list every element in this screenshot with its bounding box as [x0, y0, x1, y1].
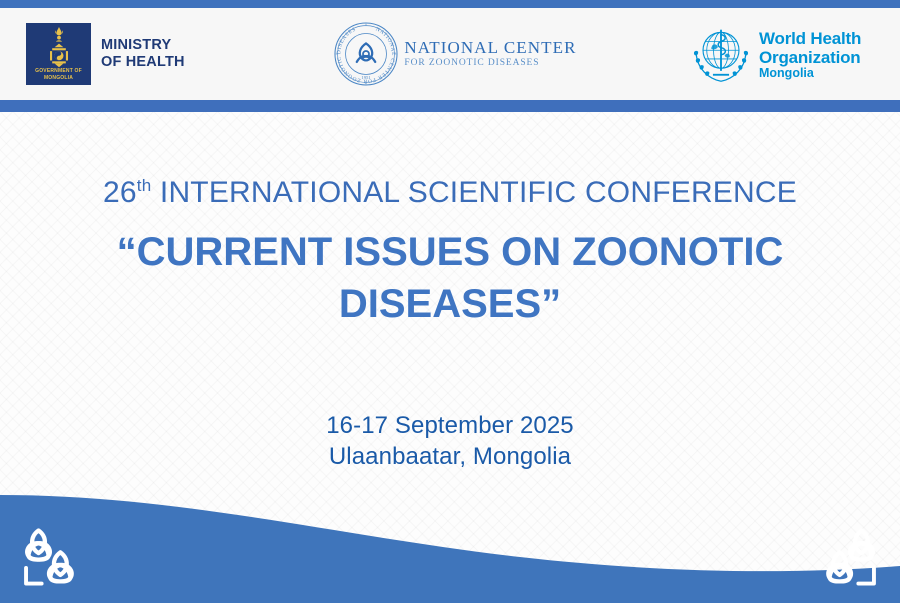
nczd-subtitle: FOR ZOONOTIC DISEASES [404, 59, 576, 69]
headline-block: 26th INTERNATIONAL SCIENTIFIC CONFERENCE… [0, 174, 900, 330]
mongolian-knot-ornament-right [810, 521, 888, 593]
nczd-title: NATIONAL CENTER [404, 39, 576, 56]
conference-theme-line-2: DISEASES” [0, 278, 900, 330]
logo-ministry-of-health: GOVERNMENT OF MONGOLIA MINISTRY OF HEALT… [26, 8, 286, 100]
top-accent-strip [0, 0, 900, 8]
ministry-of-health-name: MINISTRY OF HEALTH [101, 37, 185, 71]
bottom-wave [0, 473, 900, 603]
soyombo-icon [44, 26, 74, 68]
logo-world-health-organization: World Health Organization Mongolia [690, 8, 880, 100]
mongolia-government-crest: GOVERNMENT OF MONGOLIA [26, 23, 91, 85]
who-country-label: Mongolia [759, 67, 861, 80]
conference-theme: “CURRENT ISSUES ON ZOONOTIC DISEASES” [0, 226, 900, 330]
conference-number: 26 [103, 176, 137, 209]
conference-title-slide: GOVERNMENT OF MONGOLIA MINISTRY OF HEALT… [0, 0, 900, 603]
conference-theme-line-1: “CURRENT ISSUES ON ZOONOTIC [0, 226, 900, 278]
conference-ordinal-suffix: th [137, 176, 152, 195]
who-name-line-2: Organization [759, 48, 861, 67]
conference-edition-text: INTERNATIONAL SCIENTIFIC CONFERENCE [151, 176, 797, 209]
conference-edition-line: 26th INTERNATIONAL SCIENTIFIC CONFERENCE [0, 174, 900, 212]
svg-text:1951: 1951 [362, 75, 372, 80]
moh-name-line-1: MINISTRY [101, 37, 185, 54]
event-dates: 16-17 September 2025 [0, 410, 900, 441]
mongolian-knot-ornament-left [12, 521, 90, 593]
who-name-line-1: World Health [759, 29, 861, 48]
crest-country-line: MONGOLIA [44, 75, 73, 82]
biohazard-seal-icon: NATIONAL CENTER FOR ZOONOTIC DISEASES 19… [333, 21, 399, 87]
moh-name-line-2: OF HEALTH [101, 54, 185, 71]
logo-national-center-zoonotic-diseases: NATIONAL CENTER FOR ZOONOTIC DISEASES 19… [330, 8, 580, 100]
event-location: Ulaanbaatar, Mongolia [0, 441, 900, 472]
event-meta-block: 16-17 September 2025 Ulaanbaatar, Mongol… [0, 410, 900, 472]
header-divider-bar [0, 100, 900, 112]
who-globe-icon [690, 24, 752, 84]
